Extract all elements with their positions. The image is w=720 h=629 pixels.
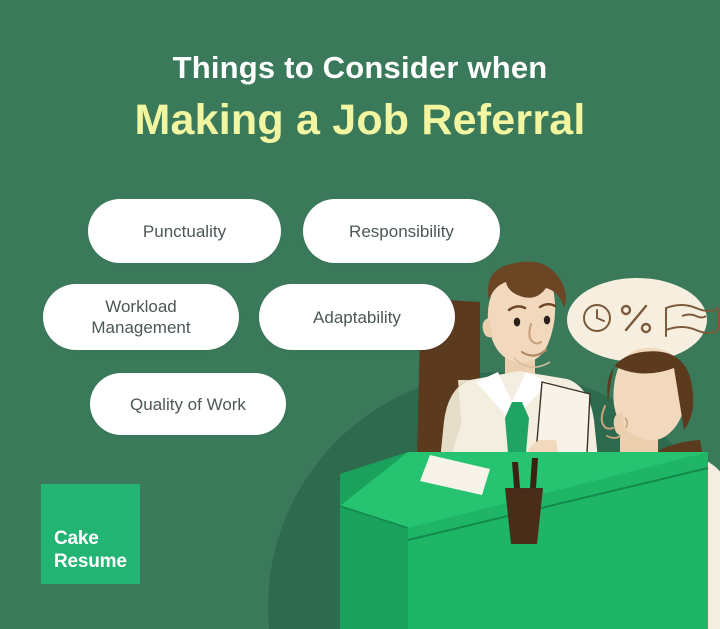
flag-icon (666, 305, 718, 336)
percent-icon (622, 306, 650, 332)
cakeresume-logo[interactable]: Cake Resume (41, 484, 140, 584)
title-line-1: Things to Consider when (0, 48, 720, 88)
pill-label: Responsibility (349, 221, 454, 242)
background-circle (268, 372, 720, 629)
pill-label: Quality of Work (130, 394, 246, 415)
pill-label: Adaptability (313, 307, 401, 328)
logo-line-2: Resume (54, 550, 140, 573)
speech-bubble (567, 278, 718, 380)
consideration-pill-adaptability[interactable]: Adaptability (259, 284, 455, 350)
consideration-pill-quality-of-work[interactable]: Quality of Work (90, 373, 286, 435)
consideration-pill-punctuality[interactable]: Punctuality (88, 199, 281, 263)
poster-canvas: Things to Consider when Making a Job Ref… (0, 0, 720, 629)
clock-icon (584, 305, 610, 331)
consideration-pill-workload-management[interactable]: Workload Management (43, 284, 239, 350)
page-title: Things to Consider when Making a Job Ref… (0, 48, 720, 148)
consideration-pill-responsibility[interactable]: Responsibility (303, 199, 500, 263)
title-line-2: Making a Job Referral (0, 92, 720, 148)
pill-label: Punctuality (143, 221, 226, 242)
pill-label: Workload Management (91, 296, 190, 338)
logo-line-1: Cake (54, 527, 140, 550)
